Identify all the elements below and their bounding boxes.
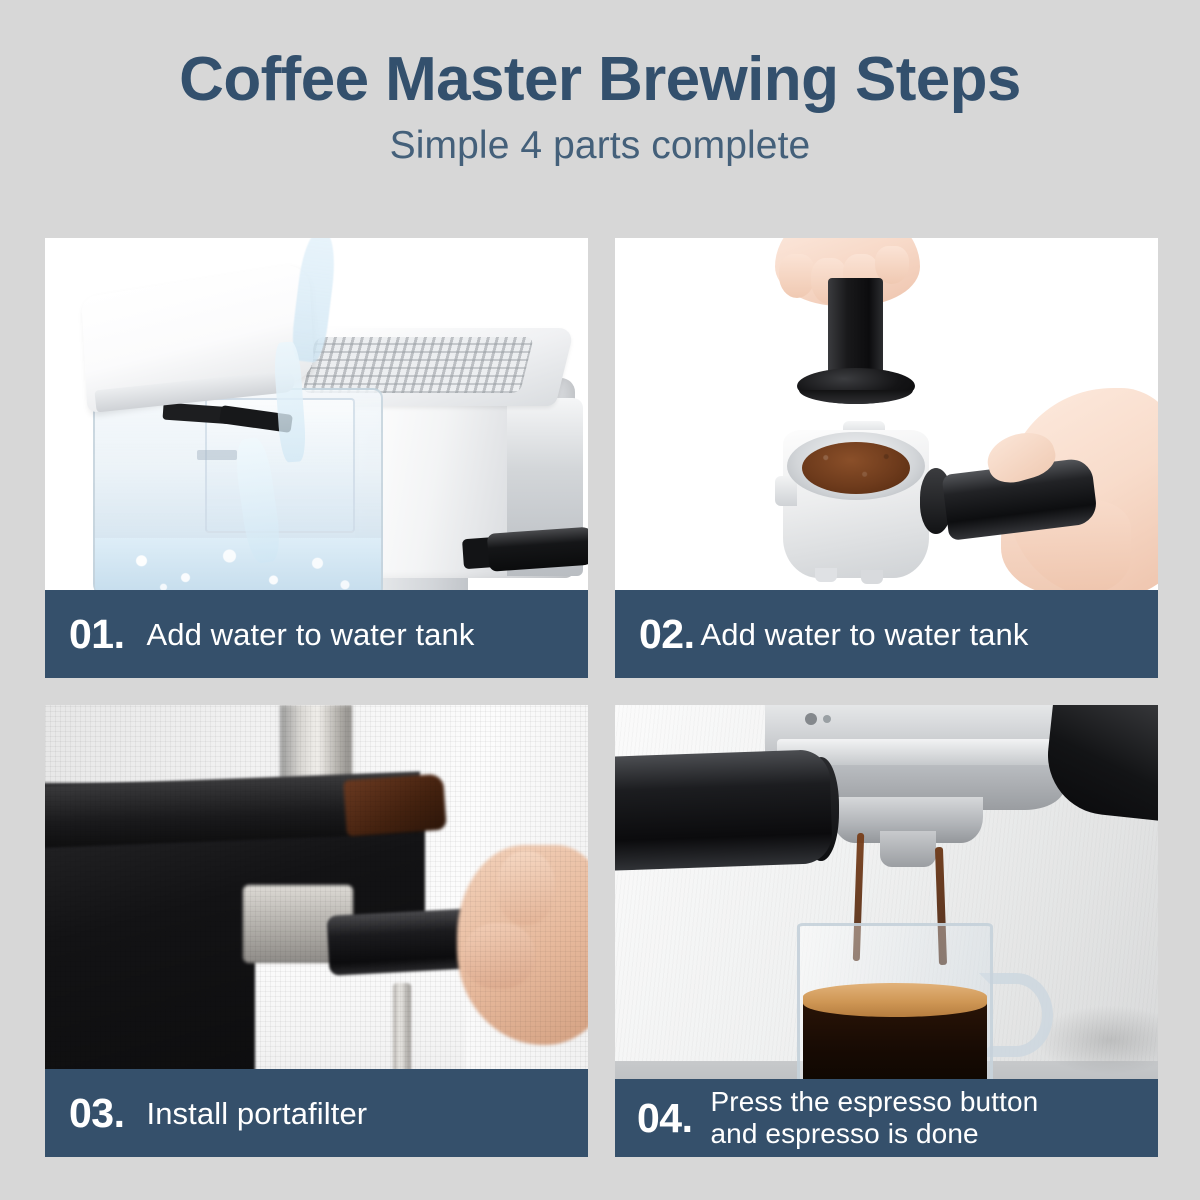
crema-icon: [803, 983, 987, 1017]
spout-icon: [393, 983, 411, 1081]
step-caption-02: 02. Add water to water tank: [615, 590, 1158, 678]
steps-grid: 01. Add water to water tank: [45, 238, 1158, 1157]
portafilter-foot-icon: [861, 570, 883, 584]
machine-dot-icon: [823, 715, 831, 723]
step-caption-01: 01. Add water to water tank: [45, 590, 588, 678]
step-text-04: Press the espresso button and espresso i…: [711, 1086, 1039, 1151]
step-number-03: 03.: [69, 1090, 125, 1137]
step-text-03: Install portafilter: [147, 1098, 368, 1129]
step-text-02: Add water to water tank: [701, 619, 1029, 650]
step-number-02: 02.: [639, 611, 695, 658]
coffee-grounds-icon: [802, 442, 910, 494]
step-card-04[interactable]: 04. Press the espresso button and espres…: [615, 705, 1158, 1157]
step-caption-03: 03. Install portafilter: [45, 1069, 588, 1157]
step-number-01: 01.: [69, 611, 125, 658]
finger-icon: [497, 851, 555, 925]
coffee-residue-icon: [343, 774, 447, 837]
step-text-01: Add water to water tank: [147, 619, 475, 650]
step-text-04-line1: Press the espresso button: [711, 1086, 1039, 1117]
step-card-02[interactable]: 02. Add water to water tank: [615, 238, 1158, 678]
step-text-04-line2: and espresso is done: [711, 1118, 1039, 1150]
header: Coffee Master Brewing Steps Simple 4 par…: [0, 0, 1200, 168]
step-number-04: 04.: [637, 1095, 693, 1142]
water-bubbles-icon: [103, 538, 378, 598]
portafilter-handle-icon: [615, 749, 833, 871]
portafilter-handle-icon: [487, 526, 588, 572]
finger-icon: [463, 923, 535, 989]
page-subtitle: Simple 4 parts complete: [0, 125, 1200, 168]
cup-warming-grid-icon: [302, 337, 534, 393]
page-title: Coffee Master Brewing Steps: [0, 48, 1200, 111]
step-card-03[interactable]: 03. Install portafilter: [45, 705, 588, 1157]
cup-shadow-icon: [1035, 1005, 1158, 1075]
spout-icon: [880, 831, 936, 867]
step-caption-04: 04. Press the espresso button and espres…: [615, 1079, 1158, 1157]
water-tank-max-mark-icon: [197, 450, 237, 460]
tamper-edge-icon: [799, 390, 913, 404]
step-card-01[interactable]: 01. Add water to water tank: [45, 238, 588, 678]
finger-icon: [779, 254, 815, 298]
portafilter-foot-icon: [815, 568, 837, 582]
machine-dot-icon: [805, 713, 817, 725]
